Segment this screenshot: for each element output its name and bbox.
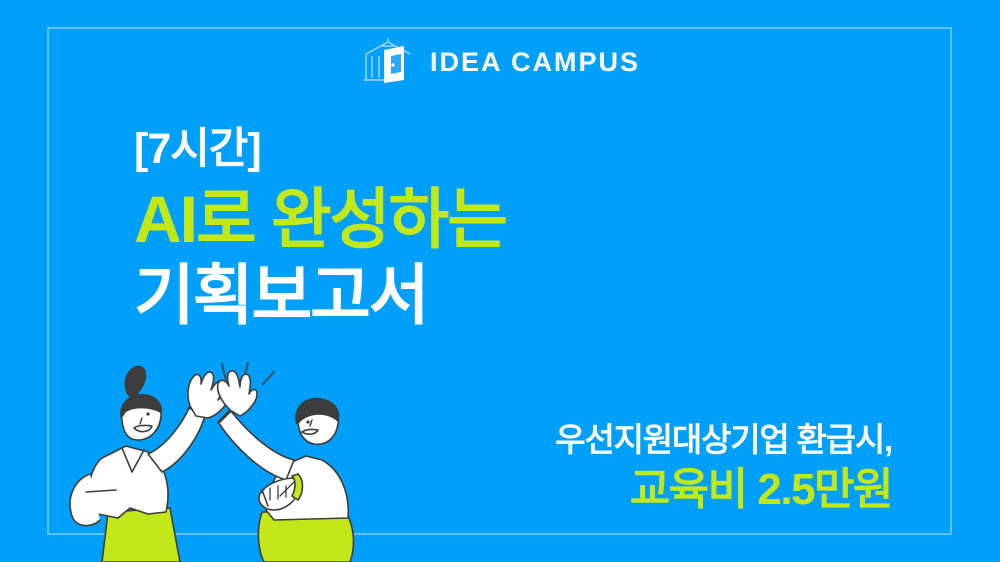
- promo-condition-text: 우선지원대상기업 환급시,: [555, 420, 892, 460]
- brand-name: IDEA CAMPUS: [430, 47, 640, 78]
- headline-accent-line: AI로 완성하는: [134, 182, 506, 257]
- headline-eyebrow: [7시간]: [134, 126, 506, 172]
- campus-building-icon: [360, 36, 416, 88]
- brand-header: IDEA CAMPUS: [0, 36, 1000, 88]
- two-people-high-five-illustration: [30, 362, 410, 562]
- headline-block: [7시간] AI로 완성하는 기획보고서: [134, 126, 506, 333]
- person-right: [218, 371, 354, 562]
- promo-banner: IDEA CAMPUS [7시간] AI로 완성하는 기획보고서 우선지원대상기…: [0, 0, 1000, 562]
- promo-price-text: 교육비 2.5만원: [555, 464, 892, 517]
- person-left: [70, 366, 227, 562]
- headline-white-line: 기획보고서: [134, 258, 506, 333]
- promo-block: 우선지원대상기업 환급시, 교육비 2.5만원: [555, 420, 892, 516]
